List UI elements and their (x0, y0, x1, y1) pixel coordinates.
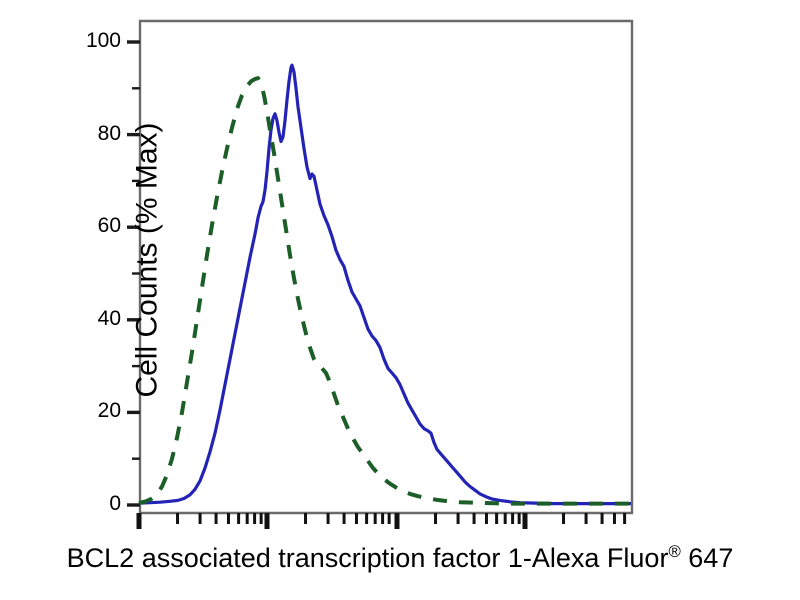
y-axis-ticks (127, 42, 140, 505)
histogram-plot (0, 0, 800, 600)
flow-cytometry-figure: Cell Counts (% Max) BCL2 associated tran… (0, 0, 800, 600)
series-sample-stained (139, 65, 631, 503)
data-series-layer (139, 65, 631, 503)
x-axis-ticks (139, 513, 625, 529)
